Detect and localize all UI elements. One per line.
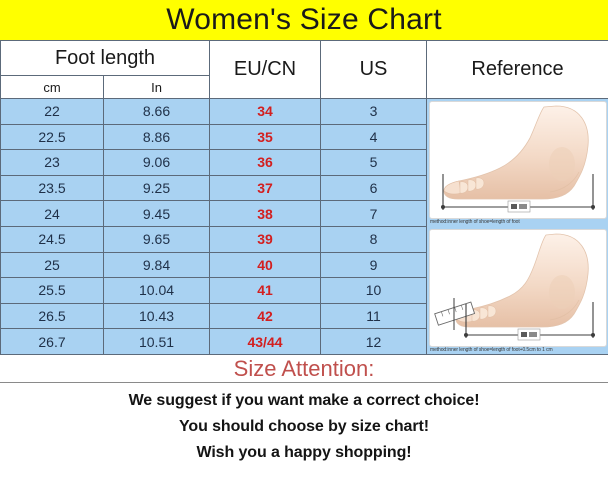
size-attention-notes: We suggest if you want make a correct ch… [0, 383, 608, 466]
cell-eu-cn: 36 [210, 150, 321, 176]
cell-eu-cn: 40 [210, 252, 321, 278]
cell-us: 12 [321, 329, 427, 355]
table-header-row-primary: Foot length EU/CN US Reference [1, 41, 608, 76]
title-banner: Women's Size Chart [0, 0, 608, 40]
cell-in: 10.43 [104, 303, 210, 329]
cell-in: 9.25 [104, 175, 210, 201]
page-title: Women's Size Chart [166, 5, 442, 35]
table-row: 22 8.66 34 3 [1, 99, 608, 125]
cell-us: 6 [321, 175, 427, 201]
cell-in: 8.66 [104, 99, 210, 125]
foot-diagram-2-caption: method:inner length of shoe=length of fo… [427, 347, 608, 355]
header-eu-cn: EU/CN [210, 41, 321, 99]
cell-eu-cn: 43/44 [210, 329, 321, 355]
cell-in: 8.86 [104, 124, 210, 150]
cell-eu-cn: 39 [210, 226, 321, 252]
header-cm: cm [1, 76, 104, 99]
header-reference: Reference [427, 41, 608, 99]
cell-us: 3 [321, 99, 427, 125]
foot-illustration-side-view [430, 102, 606, 218]
cell-us: 7 [321, 201, 427, 227]
cell-cm: 24 [1, 201, 104, 227]
header-us: US [321, 41, 427, 99]
cell-cm: 23 [1, 150, 104, 176]
cell-in: 9.84 [104, 252, 210, 278]
cell-cm: 22 [1, 99, 104, 125]
cell-us: 11 [321, 303, 427, 329]
foot-illustration-with-allowance [430, 230, 606, 346]
cell-us: 8 [321, 226, 427, 252]
cell-eu-cn: 34 [210, 99, 321, 125]
note-line: You should choose by size chart! [0, 414, 608, 440]
cell-cm: 22.5 [1, 124, 104, 150]
cell-eu-cn: 38 [210, 201, 321, 227]
cell-us: 4 [321, 124, 427, 150]
cell-in: 9.06 [104, 150, 210, 176]
cell-eu-cn: 37 [210, 175, 321, 201]
cell-in: 9.65 [104, 226, 210, 252]
cell-cm: 25.5 [1, 278, 104, 304]
note-line: Wish you a happy shopping! [0, 440, 608, 466]
cell-us: 10 [321, 278, 427, 304]
cell-us: 5 [321, 150, 427, 176]
cell-in: 10.51 [104, 329, 210, 355]
cell-in: 9.45 [104, 201, 210, 227]
cell-cm: 23.5 [1, 175, 104, 201]
cell-eu-cn: 41 [210, 278, 321, 304]
size-attention-title: Size Attention: [0, 355, 608, 383]
cell-cm: 26.5 [1, 303, 104, 329]
header-in: In [104, 76, 210, 99]
cell-cm: 26.7 [1, 329, 104, 355]
cell-eu-cn: 42 [210, 303, 321, 329]
foot-diagram-2 [429, 229, 607, 347]
cell-in: 10.04 [104, 278, 210, 304]
foot-diagram-1 [429, 101, 607, 219]
cell-us: 9 [321, 252, 427, 278]
cell-cm: 24.5 [1, 226, 104, 252]
cell-cm: 25 [1, 252, 104, 278]
foot-diagram-1-caption: method:inner length of shoe=length of fo… [427, 219, 608, 227]
cell-eu-cn: 35 [210, 124, 321, 150]
reference-images-cell: method:inner length of shoe=length of fo… [427, 99, 608, 355]
note-line: We suggest if you want make a correct ch… [0, 388, 608, 414]
size-chart-table: Foot length EU/CN US Reference cm In 22 … [0, 40, 608, 355]
header-foot-length: Foot length [1, 41, 210, 76]
